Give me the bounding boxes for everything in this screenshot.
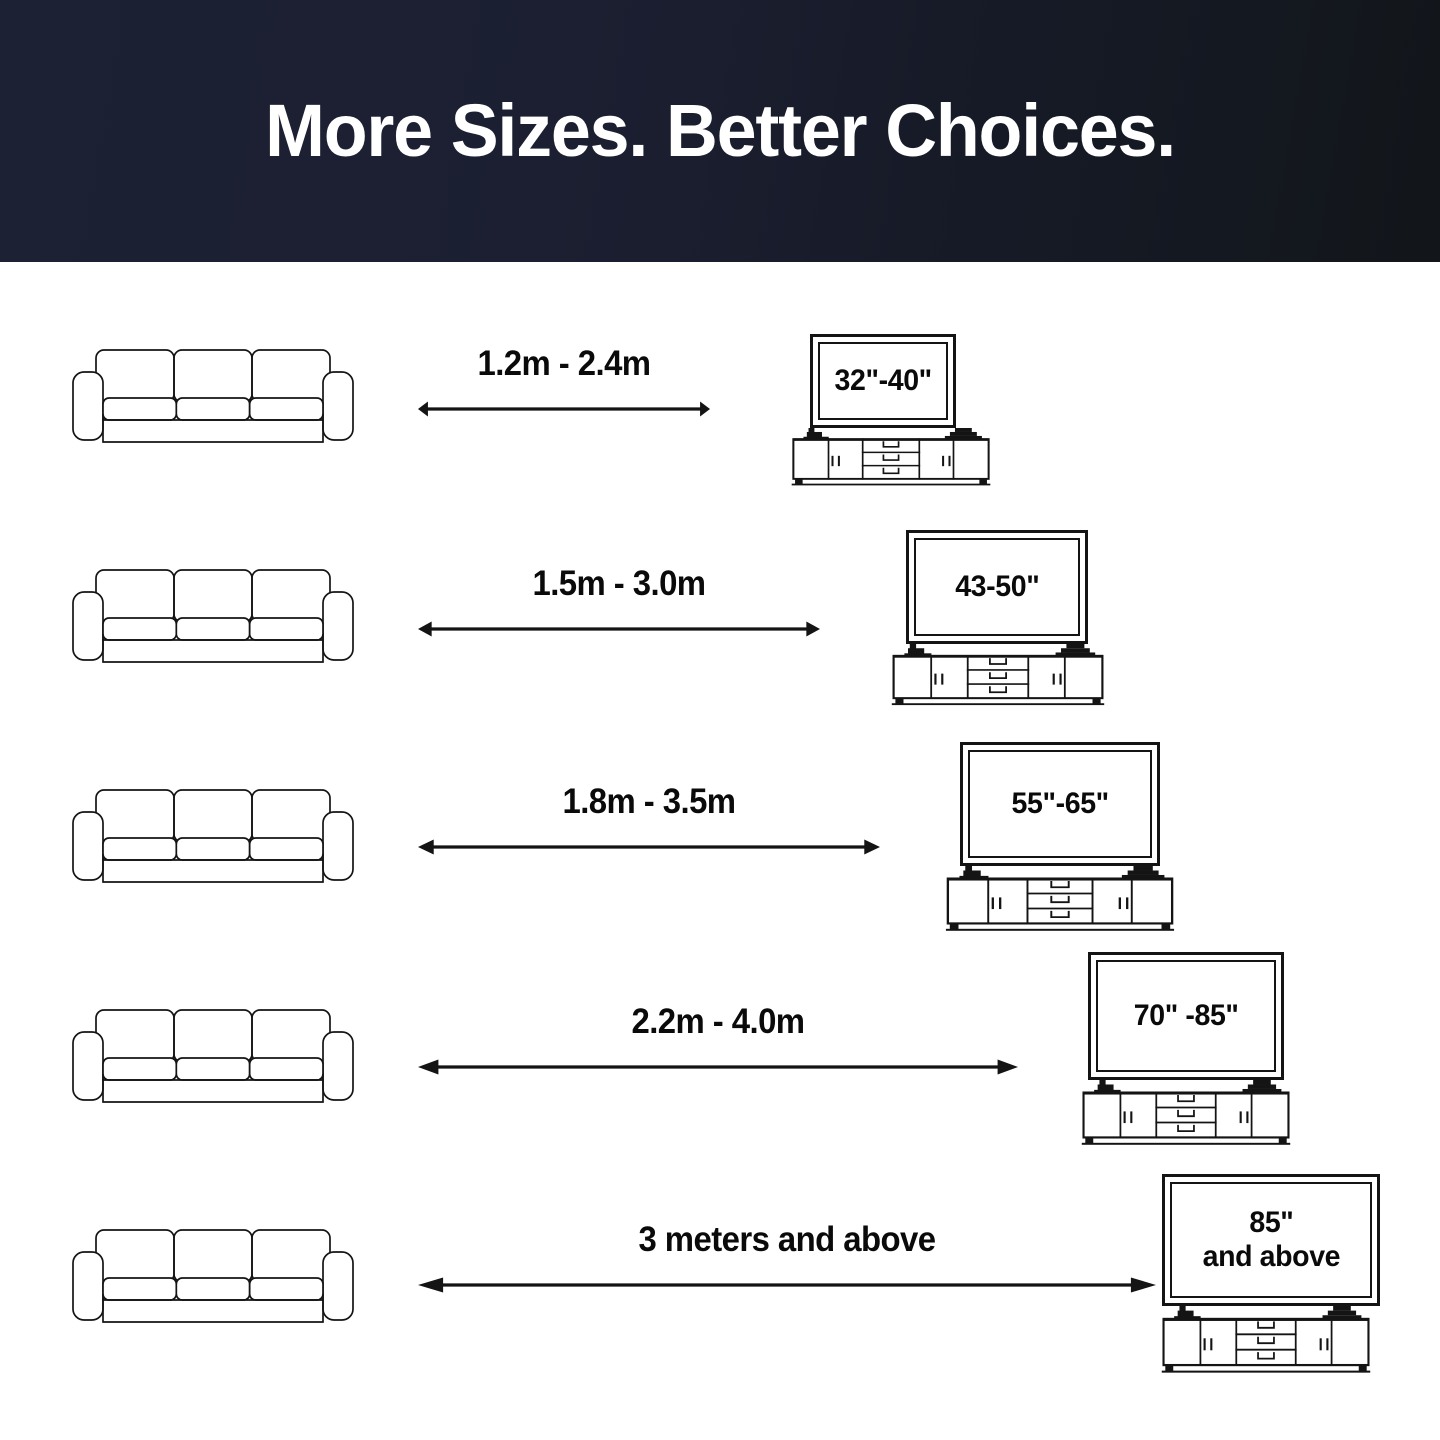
tv-size-label: 43-50" <box>955 570 1039 604</box>
tv-console-icon <box>1160 1306 1372 1378</box>
page-title: More Sizes. Better Choices. <box>265 94 1175 168</box>
tv-console-icon <box>1160 1306 1372 1378</box>
tv-size-label: 55"-65" <box>1011 787 1108 821</box>
tv-screen-icon: 85" and above <box>1162 1174 1380 1306</box>
page-header: More Sizes. Better Choices. <box>0 0 1440 262</box>
tv-size-label: 85" and above <box>1202 1206 1340 1273</box>
tv-size-label: 70" -85" <box>1134 999 1239 1033</box>
size-guide-board: 1.2m - 2.4m32"-40"1.5m - 3.0m43-50"1.8m … <box>0 262 1440 1440</box>
size-row: 3 meters and above85" and above <box>0 262 1440 1440</box>
tv-unit: 85" and above <box>0 262 1440 1440</box>
tv-size-label: 32"-40" <box>834 364 931 398</box>
